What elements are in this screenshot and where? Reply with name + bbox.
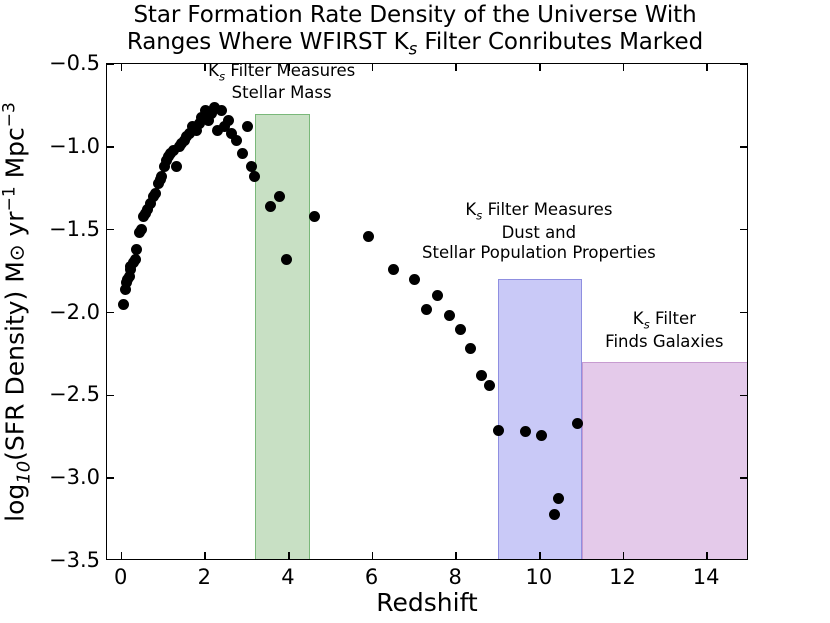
x-axis-tick [706,552,708,559]
data-point [484,380,495,391]
data-point [242,121,253,132]
annotation-blue-rest: Filter Measures [482,200,612,219]
y-axis-tick [740,64,747,65]
data-point [223,115,234,126]
annotation-green-rest: Filter Measures [225,61,355,80]
annotation-purple-k: K [633,309,644,328]
x-axis-label: Redshift [106,588,748,617]
data-point [520,426,531,437]
annotation-blue-band: Ks Filter Measures Dust and Stellar Popu… [422,200,656,262]
data-point [553,493,564,504]
annotation-purple-band: Ks Filter Finds Galaxies [605,309,723,351]
y-axis-tick [740,395,747,397]
data-point [171,161,182,172]
y-axis-tick [740,146,747,148]
annotation-green-k: K [208,61,219,80]
y-axis-tick-label: −3.5 [49,548,100,572]
data-point [265,201,276,212]
x-axis-tick [204,552,206,559]
annotation-purple-line-2: Finds Galaxies [605,332,723,352]
annotation-blue-line-2: Dust and [422,223,656,243]
x-axis-tick [623,552,625,559]
data-point [444,310,455,321]
x-axis-tick [623,64,625,71]
chart-title-line-1: Star Formation Rate Density of the Unive… [0,2,830,29]
y-axis-label-mpc: Mpc [1,127,30,186]
y-axis-tick-label: −2.0 [49,300,100,324]
x-axis-tick-label: 6 [365,565,378,589]
annotation-green-line-2: Stellar Mass [208,83,355,103]
data-point [118,299,129,310]
chart-title-line-2-pre: Ranges Where WFIRST K [127,29,409,55]
y-axis-tick [740,312,747,314]
chart-title-line-2-post: Filter Conributes Marked [417,29,703,55]
y-axis-label-sup-minus-three: −3 [0,102,19,127]
data-point [493,425,504,436]
y-axis-label: log10(SFR Density) M⊙ yr−1 Mpc−3 [0,102,35,522]
y-axis-tick-label: −3.0 [49,465,100,489]
x-axis-tick [372,64,374,71]
figure-canvas: Star Formation Rate Density of the Unive… [0,0,830,623]
y-axis-label-sup-minus-one: −1 [0,186,19,211]
x-axis-tick [539,64,541,71]
green-band [255,114,309,559]
x-axis-tick [121,552,123,559]
data-point [421,304,432,315]
data-point [131,244,142,255]
annotation-green-line-1: Ks Filter Measures [208,61,355,84]
x-axis-tick [372,552,374,559]
y-axis-label-mid: (SFR Density) M [1,261,30,461]
annotation-blue-k: K [465,200,476,219]
x-axis-tick-label: 10 [526,565,553,589]
data-point [432,290,443,301]
annotation-blue-line-1: Ks Filter Measures [422,200,656,223]
chart-title: Star Formation Rate Density of the Unive… [0,2,830,59]
y-axis-label-container: log10(SFR Density) M⊙ yr−1 Mpc−3 [0,63,34,560]
y-axis-label-log: log [1,483,30,521]
y-axis-tick [740,229,747,231]
data-point [136,224,147,235]
data-point [150,188,161,199]
data-point [455,324,466,335]
y-axis-tick [740,477,747,479]
data-point [409,274,420,285]
y-axis-tick-label: −1.0 [49,134,100,158]
data-point [130,254,141,265]
x-axis-tick-label: 2 [198,565,211,589]
x-axis-tick-label: 0 [114,565,127,589]
y-axis-tick-label: −1.5 [49,217,100,241]
x-axis-tick-label: 4 [281,565,294,589]
y-axis-tick [107,477,114,479]
data-point [572,418,583,429]
y-axis-tick-label: −2.5 [49,382,100,406]
y-axis-tick [107,229,114,231]
annotation-green-band: Ks Filter Measures Stellar Mass [208,61,355,103]
chart-title-line-2: Ranges Where WFIRST Ks Filter Conributes… [0,29,830,59]
x-axis-tick [288,552,290,559]
x-axis-tick [539,552,541,559]
data-point [388,264,399,275]
data-point [216,105,227,116]
data-point [231,135,242,146]
x-axis-tick-label: 8 [449,565,462,589]
blue-band [498,279,582,559]
chart-title-subscript: s [409,40,418,59]
annotation-blue-line-3: Stellar Population Properties [422,243,656,263]
y-axis-tick-label: −0.5 [49,51,100,75]
data-point [309,211,320,222]
sun-symbol-icon: ⊙ [5,244,29,261]
y-axis-tick [107,395,114,397]
annotation-purple-line-1: Ks Filter [605,309,723,332]
purple-band [582,362,747,559]
data-point [156,171,167,182]
x-axis-tick [204,64,206,71]
data-point [476,370,487,381]
x-axis-tick [706,64,708,71]
x-axis-tick [455,64,457,71]
x-axis-tick-label: 12 [609,565,636,589]
y-axis-tick [107,146,114,148]
x-axis-tick [455,552,457,559]
x-axis-tick-label: 14 [693,565,720,589]
data-point [237,148,248,159]
annotation-purple-rest: Filter [650,309,696,328]
data-point [465,343,476,354]
x-axis-tick [121,64,123,71]
data-point [363,231,374,242]
y-axis-tick [107,64,114,65]
y-axis-label-yr: yr [1,211,30,244]
y-axis-label-sub10: 10 [14,460,35,483]
y-axis-tick [107,312,114,314]
